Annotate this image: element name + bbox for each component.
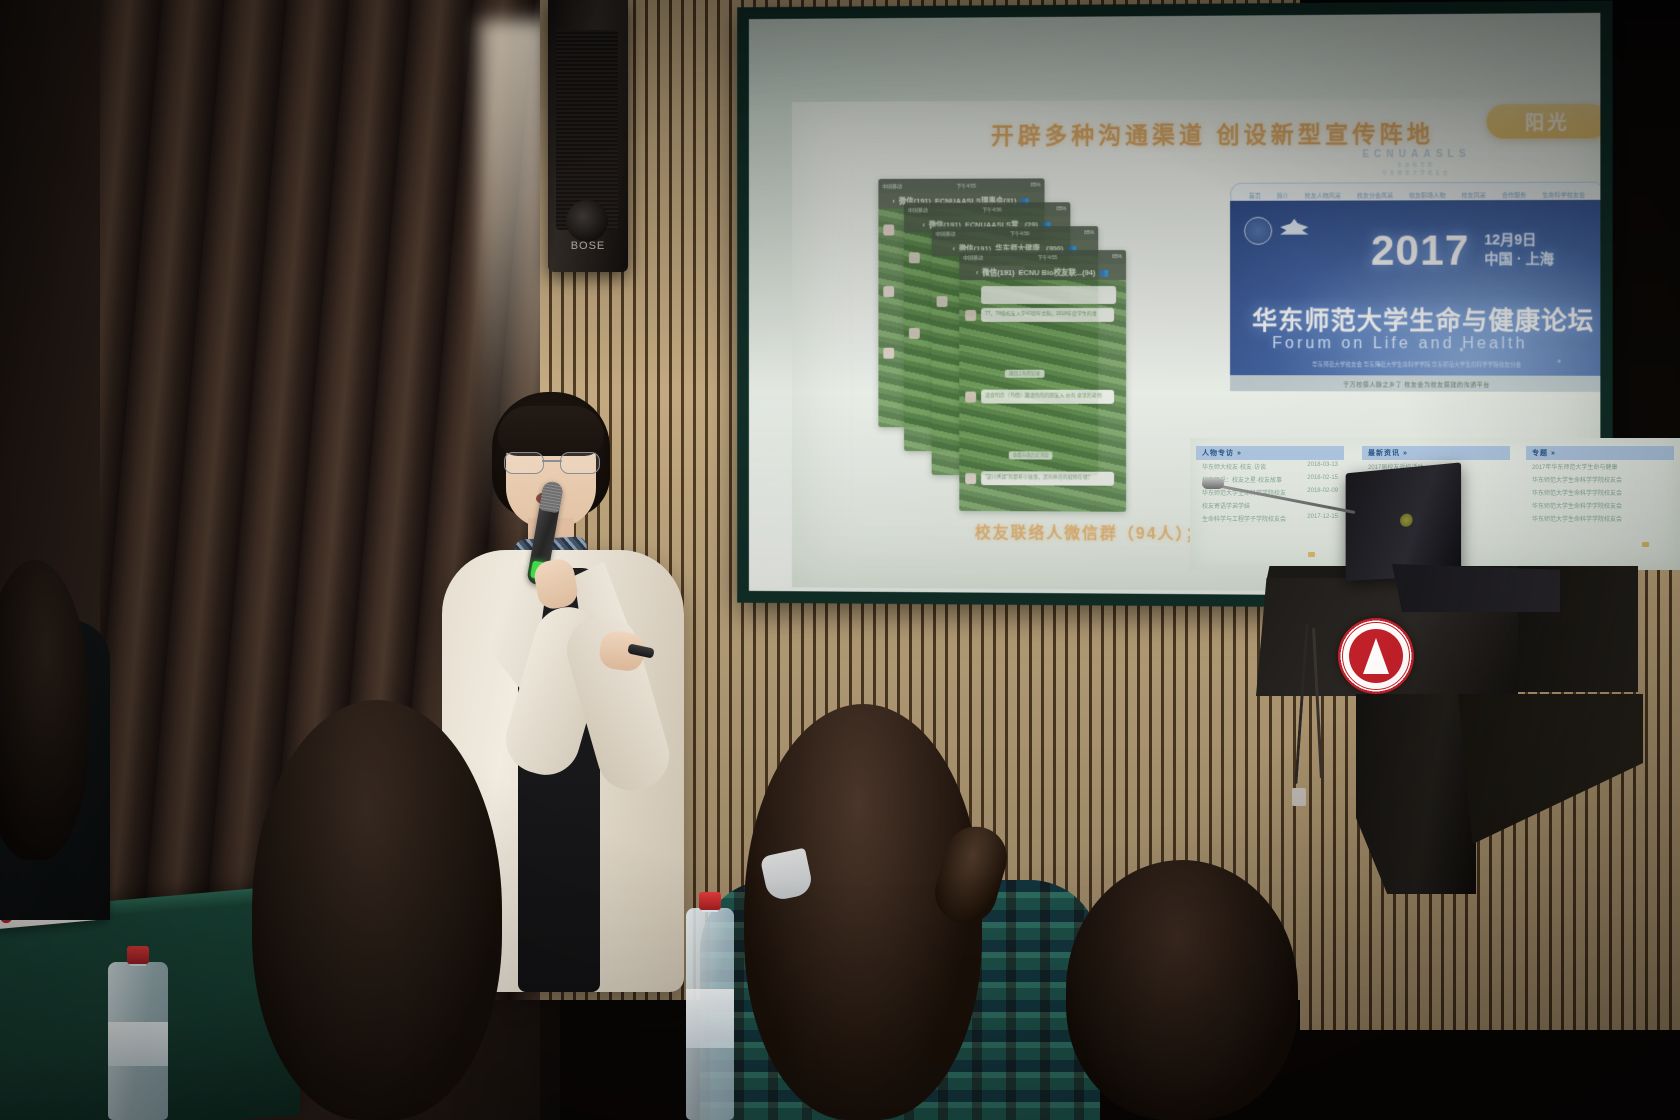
row-date: 2017-12-15 xyxy=(1307,514,1338,523)
back-label: 微信(191) xyxy=(982,267,1014,278)
nav-item-branches[interactable]: 校友分会风采 xyxy=(1357,190,1393,199)
phone-status-bar: 中国移动 下午4:56 85% xyxy=(904,202,1070,216)
eyeglasses-icon xyxy=(504,452,600,472)
university-seal-icon xyxy=(1244,217,1272,245)
banner-date-text: 12月9日 xyxy=(1484,230,1554,249)
forum-brand-text: ECNUAASLS xyxy=(1362,149,1471,160)
history-chip[interactable]: 退回上年的记录 xyxy=(1005,370,1044,378)
banner-date: 12月9日 中国 · 上海 xyxy=(1484,230,1554,268)
avatar xyxy=(909,252,920,263)
laptop-logo-icon xyxy=(1400,513,1413,527)
list-item[interactable]: 华东师范大学生命科学学院校友会 xyxy=(1526,473,1674,486)
laptop-lid xyxy=(1346,462,1461,580)
column-header: 人物专访 » xyxy=(1196,446,1344,460)
phone-status-bar: 中国移动 下午4:55 85% xyxy=(959,250,1126,264)
nav-item-careers[interactable]: 校友职场人物 xyxy=(1409,190,1445,199)
carrier-label: 中国移动 xyxy=(963,254,983,261)
phone-status-bar: 中国移动 下午4:56 85% xyxy=(932,226,1099,240)
row-date: 2018-03-13 xyxy=(1307,462,1338,471)
back-chevron-icon[interactable]: ‹ xyxy=(976,268,978,277)
battery-label: 85% xyxy=(1056,206,1066,212)
forum-emblem-icon xyxy=(1280,219,1308,243)
avatar xyxy=(909,328,920,339)
nav-item-style[interactable]: 校友风采 xyxy=(1462,190,1486,199)
list-item[interactable]: 生命科学与工程学子学院校友会2017-12-15 xyxy=(1196,512,1344,525)
row-text: 校友寄语学弟学妹 xyxy=(1202,501,1250,510)
wechat-screenshot-4: 中国移动 下午4:55 85% ‹ 微信(191) ECNU Bio校友联...… xyxy=(959,250,1126,512)
banner-logos xyxy=(1244,217,1308,245)
more-indicator-icon xyxy=(1308,552,1315,557)
clock-label: 下午4:55 xyxy=(956,182,976,189)
row-text: 生命科学与工程学子学院校友会 xyxy=(1202,514,1286,523)
carrier-label: 中国移动 xyxy=(908,206,928,213)
avatar xyxy=(937,296,948,307)
row-date: 2018-02-09 xyxy=(1307,488,1338,497)
carrier-label: 中国移动 xyxy=(882,182,902,189)
clock-label: 下午4:56 xyxy=(1010,230,1030,237)
chat-message[interactable]: "逝川秀姐"的那些小故事，还有神奇的植物在哪？ xyxy=(981,471,1114,485)
back-chevron-icon[interactable]: ‹ xyxy=(892,196,894,205)
list-item[interactable]: 华东师范大学生命科学学院校友会 xyxy=(1526,486,1674,499)
speaker-brand-label: BOSE xyxy=(548,240,628,252)
banner-title-cn: 华东师范大学生命与健康论坛 xyxy=(1252,301,1594,337)
forum-banner: 2017 12月9日 中国 · 上海 华东师范大学生命与健康论坛 Forum o… xyxy=(1230,200,1600,392)
bottle-label xyxy=(686,989,734,1048)
chat-message[interactable]: 77、78级校友入学40周年之际，2018年度学生的事 xyxy=(981,308,1114,321)
water-bottle-center xyxy=(686,908,734,1120)
bottle-label xyxy=(108,1022,168,1066)
banner-place-text: 中国 · 上海 xyxy=(1484,249,1554,268)
nav-item-association[interactable]: 生命科学校友会 xyxy=(1542,189,1585,198)
history-chip[interactable]: 查看11条历史消息 xyxy=(1009,451,1053,459)
row-date: 2018-02-15 xyxy=(1307,475,1338,484)
speaker-cone-icon xyxy=(566,200,608,242)
podium-stem xyxy=(1356,694,1476,894)
lecture-hall-scene: BOSE 开辟多种沟通渠道 创设新型宣传阵地 阳光 中国移动 下午4:55 85… xyxy=(0,0,1680,1120)
forum-brand: ECNUAASLS 生命科学院 华东师范大学校友会 xyxy=(1230,148,1600,177)
battery-label: 85% xyxy=(1112,254,1122,260)
lens-left xyxy=(504,452,544,474)
avatar xyxy=(883,286,894,297)
chat-title: ECNU Bio校友联...(94) xyxy=(1018,267,1095,278)
column-header: 专题 » xyxy=(1526,446,1674,460)
row-text: 华东师范大学生命科学学院校友会 xyxy=(1532,488,1622,497)
row-text: 华东师范大学生命科学学院校友会 xyxy=(1532,514,1622,523)
laptop-base xyxy=(1392,564,1560,612)
chat-body: 77、78级校友入学40周年之际，2018年度学生的事 退回上年的记录 请查明您… xyxy=(959,280,1126,512)
banner-organizers: 华东师范大学校友会 华东师范大学生命科学学院 华东师范大学生命科学学院校友分会 xyxy=(1230,361,1600,370)
row-text: 华东师大校友·校友·访谈 xyxy=(1202,462,1266,471)
avatar xyxy=(965,310,976,321)
podium-side-wing xyxy=(1458,694,1643,844)
wechat-screenshot-stack: 中国移动 下午4:55 85% ‹ 微信(191) ECNUAASLS理事会(3… xyxy=(878,178,1126,518)
forum-brand-sub-1: 生命科学院 xyxy=(1230,161,1600,168)
banner-title-en: Forum on Life and Health xyxy=(1272,335,1527,353)
clock-label: 下午4:56 xyxy=(982,206,1002,213)
crest-ring xyxy=(1342,622,1410,690)
nav-item-people[interactable]: 校友人物风采 xyxy=(1305,190,1341,199)
row-text: 华东师范大学生命科学学院校友会 xyxy=(1532,501,1622,510)
chat-message[interactable]: 请查明您（马倩）邀请伟伟的朋友入 伙有 更里的老师 xyxy=(981,390,1114,404)
avatar xyxy=(965,392,976,403)
nav-item-services[interactable]: 合作服务 xyxy=(1502,189,1526,198)
chat-header: ‹ 微信(191) ECNU Bio校友联...(94) 👥 xyxy=(959,264,1126,280)
back-chevron-icon[interactable]: ‹ xyxy=(922,220,924,229)
battery-label: 85% xyxy=(1031,182,1041,188)
more-indicator-icon xyxy=(1642,542,1649,547)
nav-item-intro[interactable]: 简介 xyxy=(1277,190,1289,199)
forum-website-screenshot: ECNUAASLS 生命科学院 华东师范大学校友会 首页 简介 校友人物风采 校… xyxy=(1230,148,1600,392)
banner-year: 2017 xyxy=(1371,226,1470,274)
list-item[interactable]: 华东师大校友·校友·访谈2018-03-13 xyxy=(1196,460,1344,473)
audience-head-left xyxy=(252,700,502,1120)
cable-plug-icon xyxy=(1292,788,1306,806)
lens-right xyxy=(560,452,600,474)
glasses-bridge xyxy=(542,460,562,462)
water-bottle-left xyxy=(108,962,168,1120)
list-item[interactable]: 2017年华东师范大学生命与健康 xyxy=(1526,460,1674,473)
forum-brand-sub-2: 华东师范大学校友会 xyxy=(1230,170,1600,177)
banner-footer: 于万校搭人脉之乡了 校友会为校友搭建的沟通平台 xyxy=(1230,375,1600,392)
clock-label: 下午4:55 xyxy=(1038,254,1058,261)
lower-slide-column-3: 专题 » 2017年华东师范大学生命与健康 华东师范大学生命科学学院校友会 华东… xyxy=(1526,446,1674,525)
bottle-cap-icon xyxy=(127,946,149,964)
avatar xyxy=(965,473,976,484)
audience-head-right xyxy=(1066,860,1298,1120)
avatar xyxy=(883,348,894,359)
carrier-label: 中国移动 xyxy=(936,230,956,237)
link-card[interactable] xyxy=(981,286,1116,304)
group-members-icon[interactable]: 👥 xyxy=(1099,268,1109,277)
nav-item-home[interactable]: 首页 xyxy=(1249,190,1261,199)
list-item[interactable]: 华东师范大学生命科学学院校友会 xyxy=(1526,512,1674,525)
ceiling-speaker: BOSE xyxy=(548,0,628,272)
avatar xyxy=(883,225,894,236)
university-crest-icon xyxy=(1338,618,1414,694)
battery-label: 85% xyxy=(1084,230,1094,236)
presenter-hair-front xyxy=(498,406,604,456)
list-item[interactable]: 华东师范大学生命科学学院校友会 xyxy=(1526,499,1674,512)
column-header: 最新资讯 » xyxy=(1362,446,1510,460)
phone-status-bar: 中国移动 下午4:55 85% xyxy=(878,178,1044,192)
bottle-cap-icon xyxy=(699,892,721,910)
back-chevron-icon[interactable]: ‹ xyxy=(953,244,955,253)
gooseneck-mic-head-icon xyxy=(1202,478,1224,489)
slide-title: 开辟多种沟通渠道 创设新型宣传阵地 xyxy=(888,114,1540,151)
row-text: 2017年华东师范大学生命与健康 xyxy=(1532,462,1617,471)
row-text: 华东师范大学生命科学学院校友会 xyxy=(1532,475,1622,484)
slide-badge: 阳光 xyxy=(1486,104,1600,139)
